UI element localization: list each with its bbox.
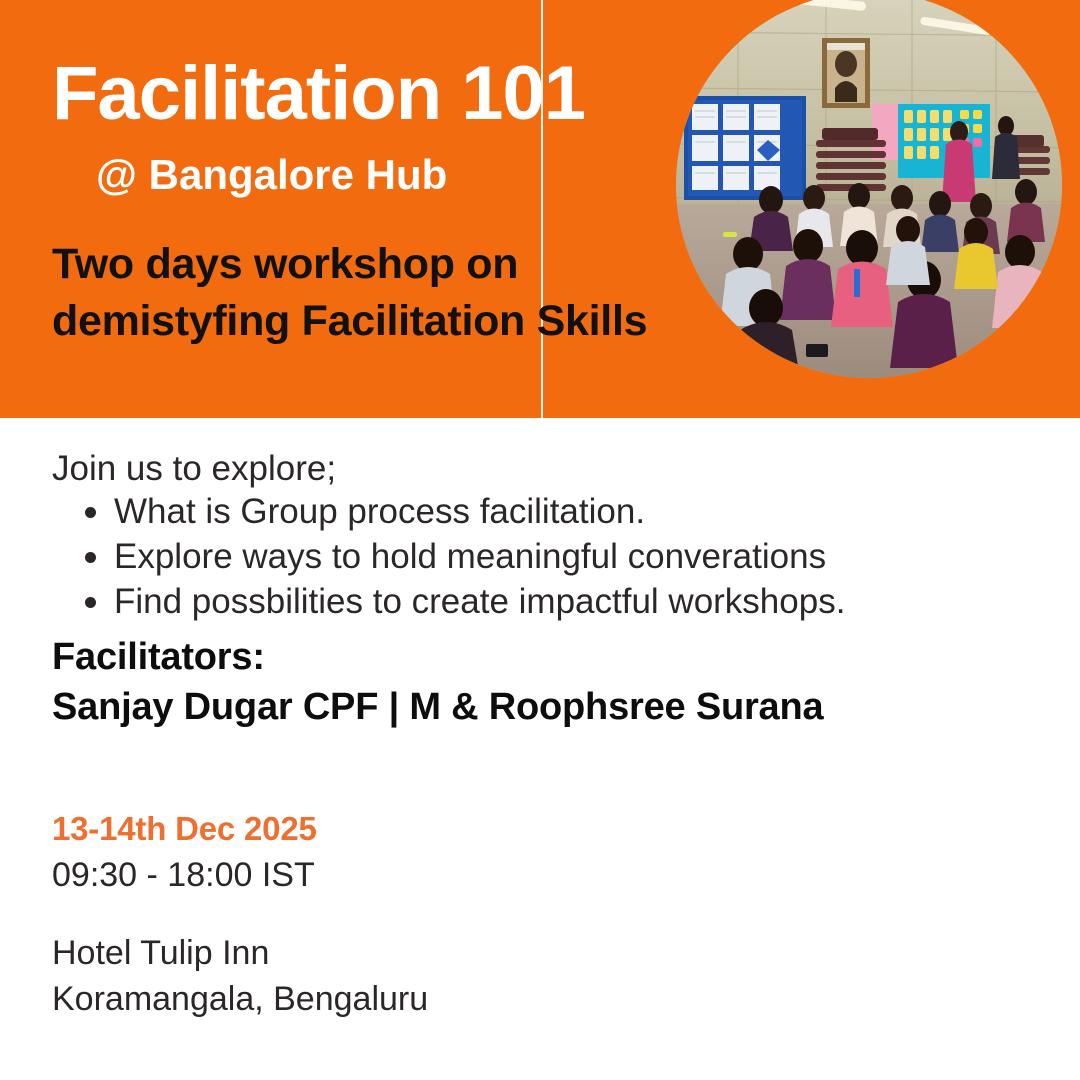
workshop-photo xyxy=(676,0,1062,378)
intro-text: Join us to explore; xyxy=(52,448,336,490)
poster-title: Facilitation 101 xyxy=(52,56,652,132)
bullet-dot-icon xyxy=(85,507,96,518)
phone-on-floor xyxy=(806,344,828,357)
list-item-label: Explore ways to hold meaningful converat… xyxy=(114,537,826,576)
explore-bullet-list: What is Group process facilitation. Expl… xyxy=(78,490,845,624)
body-section: Join us to explore; What is Group proces… xyxy=(0,418,1080,1080)
bullet-dot-icon xyxy=(85,552,96,563)
poster-canvas: Facilitation 101 @ Bangalore Hub Two day… xyxy=(0,0,1080,1080)
facilitators-names: Sanjay Dugar CPF | M & Roophsree Surana xyxy=(52,686,823,729)
list-item-label: Find possbilities to create impactful wo… xyxy=(114,582,845,621)
wall-portrait xyxy=(822,38,870,108)
list-item: Find possbilities to create impactful wo… xyxy=(78,580,845,625)
workshop-photo-illustration xyxy=(676,0,1062,378)
workshop-description: Two days workshop on demistyfing Facilit… xyxy=(52,236,652,350)
venue-name: Hotel Tulip Inn xyxy=(52,934,269,973)
headline-group: Facilitation 101 @ Bangalore Hub xyxy=(52,56,652,196)
event-time: 09:30 - 18:00 IST xyxy=(52,856,315,895)
venue-address: Koramangala, Bengaluru xyxy=(52,980,428,1019)
blue-notice-board xyxy=(684,96,806,200)
header-banner: Facilitation 101 @ Bangalore Hub Two day… xyxy=(0,0,1080,418)
list-item: What is Group process facilitation. xyxy=(78,490,845,535)
facilitators-heading: Facilitators: xyxy=(52,636,265,679)
event-date: 13-14th Dec 2025 xyxy=(52,810,317,848)
bullet-dot-icon xyxy=(85,597,96,608)
list-item: Explore ways to hold meaningful converat… xyxy=(78,535,845,580)
list-item-label: What is Group process facilitation. xyxy=(114,492,645,531)
poster-subtitle-location: @ Bangalore Hub xyxy=(96,154,652,196)
